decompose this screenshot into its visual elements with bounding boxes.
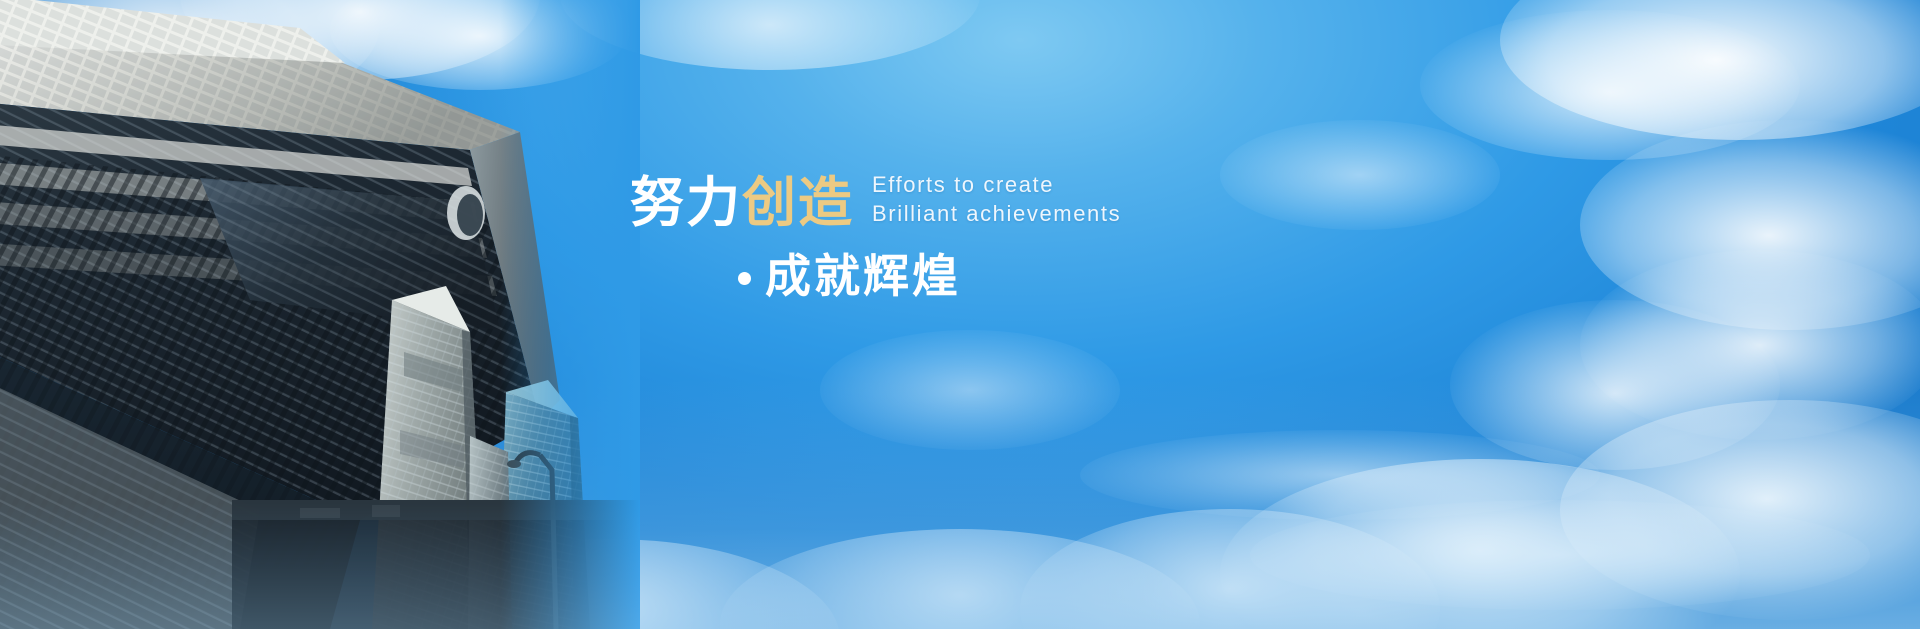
headline-chinese-subline: 成就辉煌: [765, 252, 961, 300]
banner-headline-block: 努力创造 Efforts to create Brilliant achieve…: [630, 170, 1190, 300]
skyscraper-photo: [0, 0, 640, 629]
headline-chinese-gold: 创造: [742, 171, 854, 234]
bullet-dot-icon: [738, 272, 751, 285]
headline-english-line-2: Brilliant achievements: [872, 199, 1121, 228]
headline-chinese-white: 努力: [630, 171, 742, 234]
headline-line-2: 成就辉煌: [630, 252, 1190, 300]
headline-english-line-1: Efforts to create: [872, 170, 1121, 199]
headline-line-1: 努力创造 Efforts to create Brilliant achieve…: [630, 170, 1190, 232]
headline-english-block: Efforts to create Brilliant achievements: [872, 170, 1121, 232]
hero-banner: 努力创造 Efforts to create Brilliant achieve…: [0, 0, 1920, 629]
headline-chinese-primary: 努力创造: [630, 175, 854, 232]
